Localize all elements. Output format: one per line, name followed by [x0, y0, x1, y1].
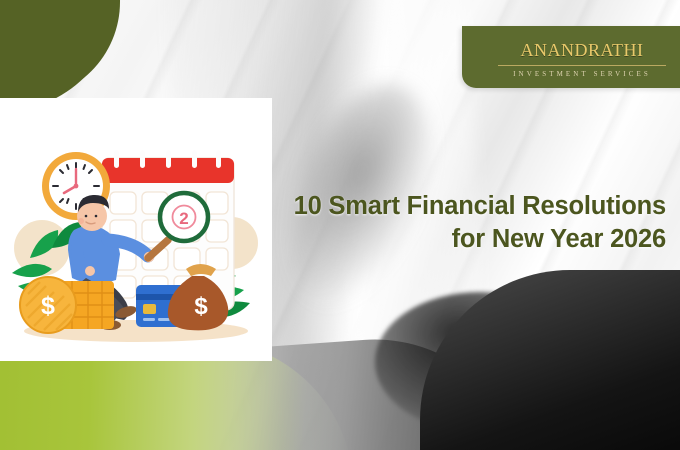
- headline-line-1: 10 Smart Financial Resolutions: [274, 190, 666, 223]
- promo-banner: AnandRathi INVESTMENT SERVICES 10 Smart …: [0, 0, 680, 450]
- eye-left: [85, 215, 88, 218]
- coin-dollar-symbol: $: [41, 292, 55, 320]
- money-bag-dollar-symbol: $: [194, 293, 208, 320]
- logo-wordmark: AnandRathi: [521, 36, 644, 61]
- headline: 10 Smart Financial Resolutions for New Y…: [274, 190, 666, 256]
- hand-left: [85, 266, 95, 276]
- logo-tagline: INVESTMENT SERVICES: [513, 70, 651, 78]
- eye-right: [95, 215, 98, 218]
- gold-coins: $: [20, 277, 114, 333]
- card-chip: [143, 304, 156, 314]
- highlighted-date: 2: [179, 209, 188, 228]
- clock-center: [74, 184, 79, 189]
- financial-planning-illustration: 2: [0, 98, 272, 361]
- brand-logo[interactable]: AnandRathi INVESTMENT SERVICES: [462, 26, 680, 88]
- headline-line-2: for New Year 2026: [274, 223, 666, 256]
- illustration-panel: 2: [0, 98, 272, 361]
- logo-divider: [498, 65, 666, 66]
